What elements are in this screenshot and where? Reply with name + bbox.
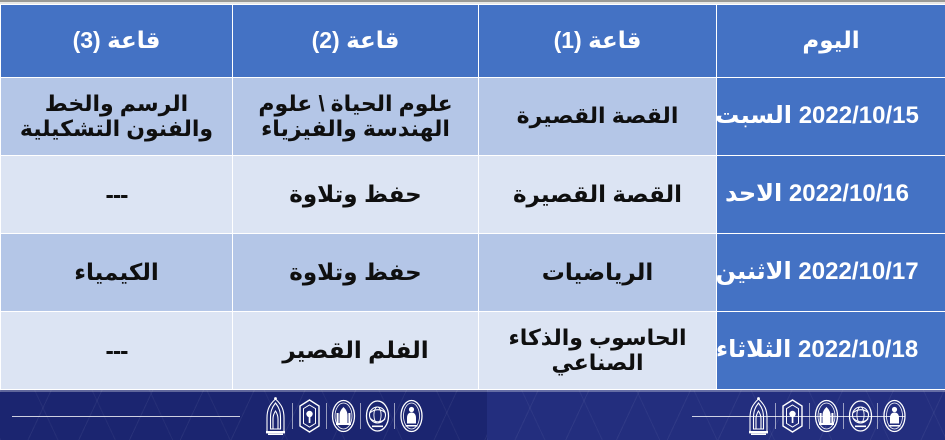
cell-day-date: 2022/10/18 xyxy=(798,336,918,363)
cell-day-date: 2022/10/17 xyxy=(798,258,918,285)
logo-divider xyxy=(292,403,293,429)
cell-hall3: --- xyxy=(1,156,233,234)
cell-hall2: حفظ وتلاوة xyxy=(233,234,479,312)
cell-hall3: --- xyxy=(1,312,233,390)
table-row: 2022/10/16 الاحد القصة القصيرة حفظ وتلاو… xyxy=(1,156,945,234)
footer-logo-group xyxy=(262,395,425,437)
logo-divider xyxy=(326,403,327,429)
logo-divider xyxy=(843,403,844,429)
cell-hall1: القصة القصيرة xyxy=(479,156,717,234)
logo-divider xyxy=(360,403,361,429)
footer-band-right xyxy=(487,390,945,440)
cell-hall2: حفظ وتلاوة xyxy=(233,156,479,234)
footer-banner xyxy=(0,390,945,440)
column-header-hall1: قاعة (1) xyxy=(479,5,717,78)
table-header: اليوم قاعة (1) قاعة (2) قاعة (3) xyxy=(1,5,945,78)
figure-emblem-logo xyxy=(881,396,908,436)
table-row: 2022/10/17 الاثنين الرياضيات حفظ وتلاوة … xyxy=(1,234,945,312)
table-row: 2022/10/15 السبت القصة القصيرة علوم الحي… xyxy=(1,78,945,156)
footer-horizontal-rule xyxy=(12,416,240,417)
minaret-emblem-logo xyxy=(745,396,772,436)
cell-day: 2022/10/17 الاثنين xyxy=(717,234,945,312)
cell-day-name: الاثنين xyxy=(717,258,792,285)
footer-top-rule xyxy=(487,390,945,392)
cell-day-name: الثلاثاء xyxy=(717,336,792,363)
cell-hall3: الرسم والخط والفنون التشكيلية xyxy=(1,78,233,156)
globe-emblem-logo xyxy=(847,396,874,436)
cell-day-date: 2022/10/16 xyxy=(789,180,909,207)
cell-hall2: علوم الحياة \ علوم الهندسة والفيزياء xyxy=(233,78,479,156)
cell-hall2: الفلم القصير xyxy=(233,312,479,390)
table-header-row: اليوم قاعة (1) قاعة (2) قاعة (3) xyxy=(1,5,945,78)
footer-band-left xyxy=(0,390,487,440)
cell-day-name: الاحد xyxy=(725,180,782,207)
cell-day: 2022/10/16 الاحد xyxy=(717,156,945,234)
column-header-hall3: قاعة (3) xyxy=(1,5,233,78)
table-row: 2022/10/18 الثلاثاء الحاسوب والذكاء الصن… xyxy=(1,312,945,390)
cell-hall1: القصة القصيرة xyxy=(479,78,717,156)
cell-day: 2022/10/15 السبت xyxy=(717,78,945,156)
cell-day-name: السبت xyxy=(717,102,793,129)
cell-hall1: الحاسوب والذكاء الصناعي xyxy=(479,312,717,390)
footer-top-rule xyxy=(0,390,487,392)
footer-logo-group xyxy=(745,395,908,437)
mosque-emblem-logo xyxy=(330,396,357,436)
logo-divider xyxy=(775,403,776,429)
hall-schedule-table: اليوم قاعة (1) قاعة (2) قاعة (3) 2022/10… xyxy=(0,4,945,390)
column-header-day: اليوم xyxy=(717,5,945,78)
mosque-emblem-logo xyxy=(813,396,840,436)
cell-day-date: 2022/10/15 xyxy=(799,102,919,129)
cell-hall3: الكيمياء xyxy=(1,234,233,312)
logo-divider xyxy=(877,403,878,429)
logo-divider xyxy=(394,403,395,429)
hexagon-emblem-logo xyxy=(296,396,323,436)
table-body: 2022/10/15 السبت القصة القصيرة علوم الحي… xyxy=(1,78,945,390)
globe-emblem-logo xyxy=(364,396,391,436)
logo-divider xyxy=(809,403,810,429)
schedule-screenshot: اليوم قاعة (1) قاعة (2) قاعة (3) 2022/10… xyxy=(0,0,945,440)
column-header-hall2: قاعة (2) xyxy=(233,5,479,78)
hexagon-emblem-logo xyxy=(779,396,806,436)
cell-day: 2022/10/18 الثلاثاء xyxy=(717,312,945,390)
minaret-emblem-logo xyxy=(262,396,289,436)
figure-emblem-logo xyxy=(398,396,425,436)
cell-hall1: الرياضيات xyxy=(479,234,717,312)
